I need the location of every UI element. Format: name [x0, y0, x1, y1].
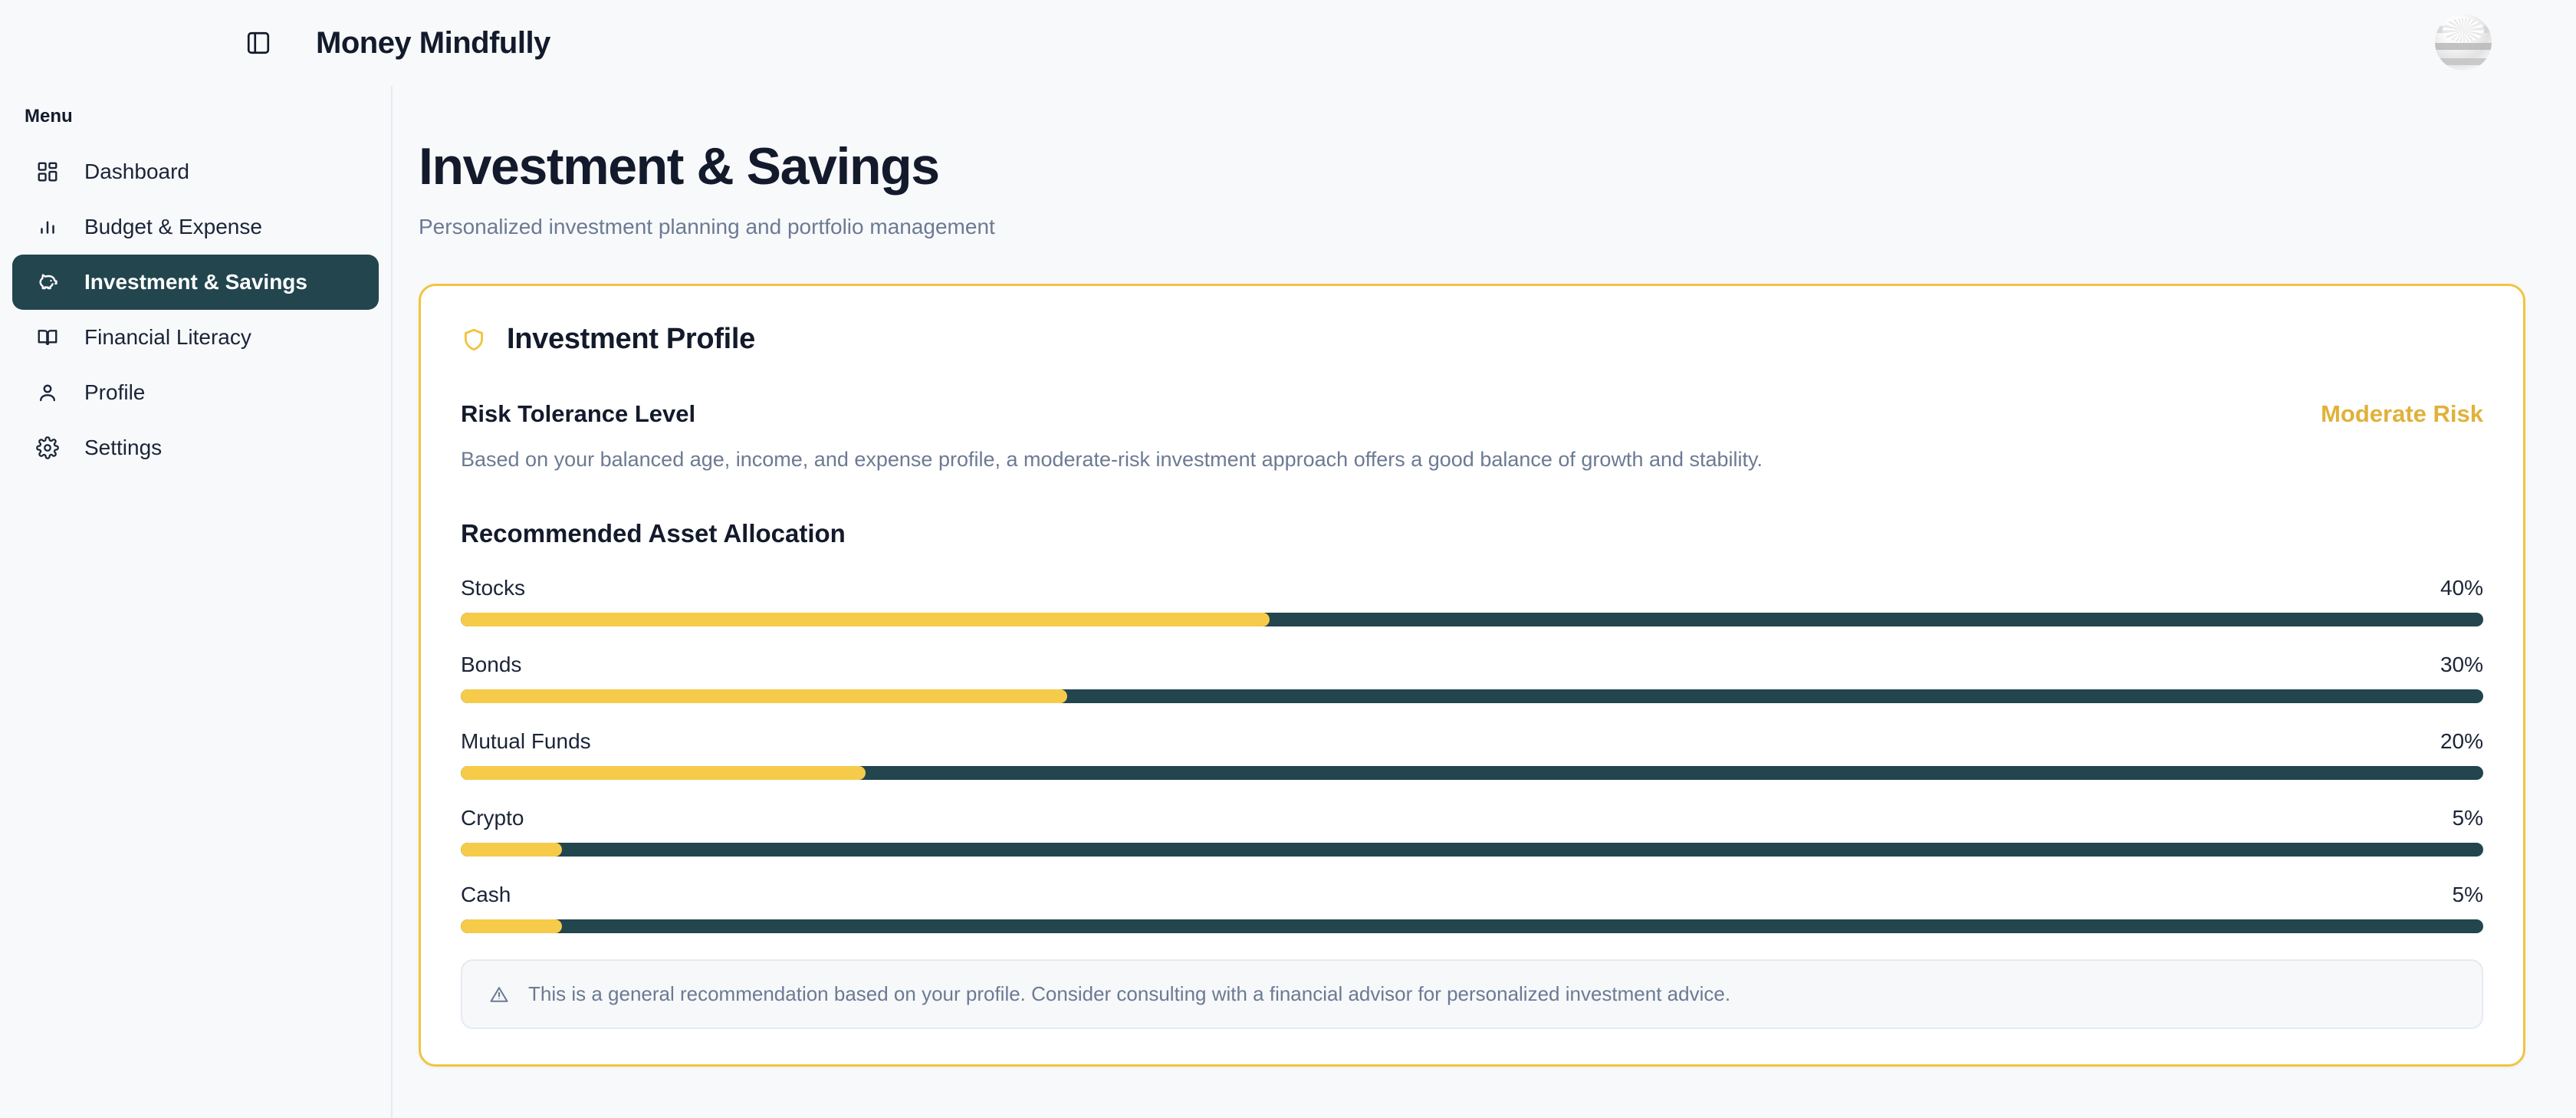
- alert-triangle-icon: [488, 984, 510, 1005]
- sidebar-heading: Menu: [0, 106, 391, 127]
- progress-track: [461, 766, 2483, 780]
- sidebar-item-label: Budget & Expense: [84, 215, 262, 239]
- allocation-row: Mutual Funds 20%: [461, 729, 2483, 780]
- progress-track: [461, 613, 2483, 626]
- risk-description: Based on your balanced age, income, and …: [461, 448, 2483, 472]
- piggy-bank-icon: [34, 268, 61, 296]
- disclaimer-text: This is a general recommendation based o…: [528, 982, 1730, 1006]
- sidebar-item-label: Settings: [84, 436, 162, 460]
- asset-percent: 30%: [2440, 653, 2483, 677]
- asset-percent: 40%: [2440, 576, 2483, 600]
- asset-percent: 5%: [2453, 806, 2483, 830]
- asset-label: Mutual Funds: [461, 729, 591, 754]
- progress-track: [461, 843, 2483, 857]
- allocation-bar-list: Stocks 40% Bonds 30% Mutual Funds: [461, 576, 2483, 933]
- sidebar-item-label: Financial Literacy: [84, 325, 251, 350]
- card-title: Investment Profile: [507, 323, 755, 356]
- asset-percent: 20%: [2440, 729, 2483, 754]
- allocation-row: Cash 5%: [461, 883, 2483, 933]
- allocation-row: Bonds 30%: [461, 653, 2483, 703]
- progress-track: [461, 689, 2483, 703]
- bar-chart-icon: [34, 213, 61, 241]
- sidebar-item-financial-literacy[interactable]: Financial Literacy: [12, 310, 379, 365]
- grid-icon: [34, 158, 61, 186]
- progress-fill: [461, 689, 1067, 703]
- progress-fill: [461, 843, 562, 857]
- allocation-title: Recommended Asset Allocation: [461, 519, 2483, 548]
- investment-profile-card: Investment Profile Risk Tolerance Level …: [419, 284, 2525, 1067]
- sidebar-item-label: Investment & Savings: [84, 270, 307, 294]
- app-brand-title: Money Mindfully: [316, 26, 550, 61]
- progress-fill: [461, 613, 1270, 626]
- disclaimer-note: This is a general recommendation based o…: [461, 959, 2483, 1029]
- sidebar-item-label: Dashboard: [84, 159, 189, 184]
- sidebar-item-label: Profile: [84, 380, 145, 405]
- shield-icon: [461, 327, 487, 353]
- progress-track: [461, 919, 2483, 933]
- page-title: Investment & Savings: [419, 136, 2525, 196]
- sidebar-item-budget-expense[interactable]: Budget & Expense: [12, 199, 379, 255]
- sidebar-item-profile[interactable]: Profile: [12, 365, 379, 420]
- panel-left-icon[interactable]: [244, 28, 273, 58]
- top-bar: Money Mindfully: [0, 0, 2576, 86]
- sidebar-item-settings[interactable]: Settings: [12, 420, 379, 475]
- sidebar: Menu Dashboard Budget & Expense Investme…: [0, 86, 393, 1118]
- book-open-icon: [34, 324, 61, 351]
- asset-label: Stocks: [461, 576, 525, 600]
- allocation-row: Crypto 5%: [461, 806, 2483, 857]
- top-bar-left: Money Mindfully: [0, 26, 550, 61]
- gear-icon: [34, 434, 61, 462]
- risk-tolerance-label: Risk Tolerance Level: [461, 400, 695, 428]
- card-header: Investment Profile: [461, 323, 2483, 356]
- asset-label: Crypto: [461, 806, 524, 830]
- sidebar-item-investment-savings[interactable]: Investment & Savings: [12, 255, 379, 310]
- progress-fill: [461, 766, 866, 780]
- progress-fill: [461, 919, 562, 933]
- status-badge: Moderate Risk: [2321, 400, 2483, 428]
- main-content: Investment & Savings Personalized invest…: [394, 86, 2576, 1118]
- avatar[interactable]: [2435, 14, 2492, 71]
- asset-percent: 5%: [2453, 883, 2483, 907]
- page-subtitle: Personalized investment planning and por…: [419, 215, 2525, 239]
- asset-label: Cash: [461, 883, 511, 907]
- risk-tolerance-row: Risk Tolerance Level Moderate Risk: [461, 400, 2483, 428]
- sidebar-item-dashboard[interactable]: Dashboard: [12, 144, 379, 199]
- allocation-row: Stocks 40%: [461, 576, 2483, 626]
- asset-label: Bonds: [461, 653, 521, 677]
- user-icon: [34, 379, 61, 406]
